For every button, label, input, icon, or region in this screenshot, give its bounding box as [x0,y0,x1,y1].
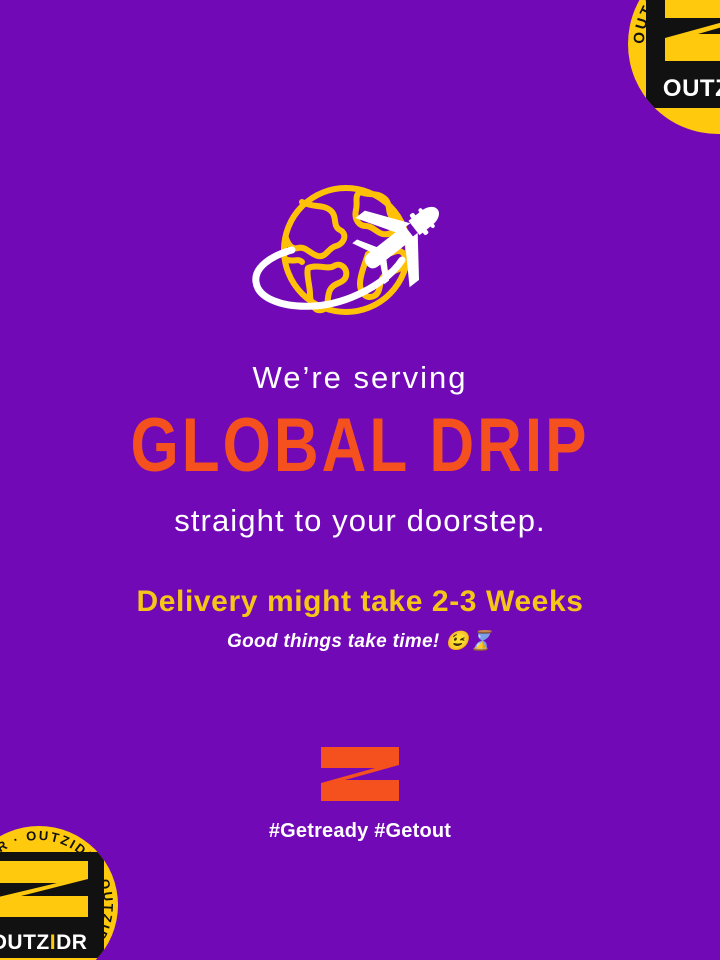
badge-core-top-right: OUTZIDR [646,0,720,108]
headline-block: We’re serving GLOBAL DRIP straight to yo… [0,362,720,653]
brand-badge-top-right: OUTZIDR · OUTZIDR · OUTZIDR · OUTZIDR [628,0,720,134]
poster-canvas: We’re serving GLOBAL DRIP straight to yo… [0,0,720,960]
brand-badge-bottom-left: OUTZIDR · OUTZIDR · OUTZIDR · OUTZIDR [0,826,118,960]
globe-airplane-icon [236,168,484,344]
badge-z-logo-top-right [662,0,720,69]
badge-core-bottom-left: OUTZIDR [0,852,104,958]
badge-wordmark-top-right: OUTZIDR [663,77,720,101]
page-title: GLOBAL DRIP [0,409,720,485]
badge-wordmark-bottom-left: OUTZIDR [0,932,87,953]
subheadline-text: straight to your doorstep. [0,505,720,538]
tagline-text: Good things take time! 😉⌛ [0,632,720,653]
delivery-estimate-text: Delivery might take 2-3 Weeks [0,585,720,618]
badge-z-logo-bottom-left [0,858,91,925]
z-logo [319,745,401,803]
eyebrow-text: We’re serving [0,362,720,395]
